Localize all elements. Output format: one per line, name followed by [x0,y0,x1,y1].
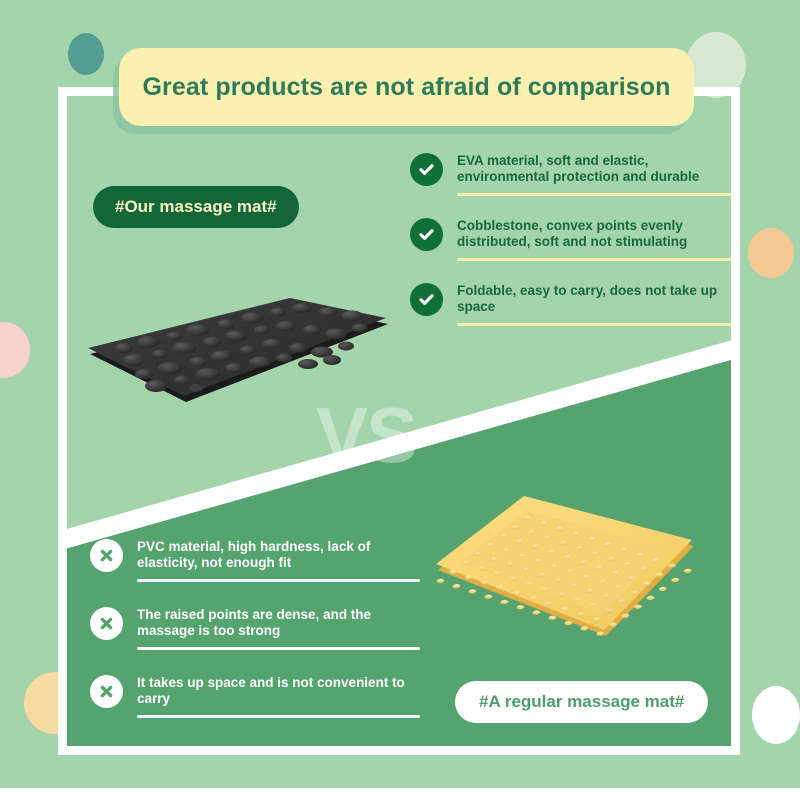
black-massage-mat-image [78,296,396,414]
page-bottom-strip [0,788,800,800]
our-product-label-text: #Our massage mat# [115,197,277,216]
yellow-massage-mat-image [430,488,702,656]
feature-underline [137,647,420,650]
peach-dot-decoration [748,228,794,278]
feature-text: The raised points are dense, and the mas… [137,607,420,640]
feature-underline [457,258,732,261]
feature-item: Foldable, easy to carry, does not take u… [410,282,732,326]
other-product-feature-list: PVC material, high hardness, lack of ela… [90,538,420,742]
page-title: Great products are not afraid of compari… [142,73,670,102]
check-icon [410,218,443,251]
feature-text: It takes up space and is not convenient … [137,675,420,708]
our-product-feature-list: EVA material, soft and elastic, environm… [410,152,732,347]
feature-item: The raised points are dense, and the mas… [90,606,420,650]
feature-text: Foldable, easy to carry, does not take u… [457,283,732,316]
our-product-label: #Our massage mat# [93,186,299,228]
feature-underline [137,715,420,718]
title-banner: Great products are not afraid of compari… [119,48,694,126]
cross-icon [90,539,123,572]
feature-text: Cobblestone, convex points evenly distri… [457,218,732,251]
feature-item: EVA material, soft and elastic, environm… [410,152,732,196]
feature-text: EVA material, soft and elastic, environm… [457,153,732,186]
feature-underline [457,193,732,196]
teal-dot-decoration [68,33,104,75]
cross-icon [90,607,123,640]
other-product-label: #A regular massage mat# [455,681,708,723]
feature-item: PVC material, high hardness, lack of ela… [90,538,420,582]
feature-item: It takes up space and is not convenient … [90,674,420,718]
pink-dot-decoration [0,322,30,378]
feature-underline [457,323,732,326]
feature-text: PVC material, high hardness, lack of ela… [137,539,420,572]
check-icon [410,153,443,186]
cross-icon [90,675,123,708]
comparison-infographic: VS Great products are not afraid of comp… [0,0,800,800]
check-icon [410,283,443,316]
white-dot-decoration [752,686,800,744]
feature-item: Cobblestone, convex points evenly distri… [410,217,732,261]
other-product-label-text: #A regular massage mat# [479,692,684,711]
feature-underline [137,579,420,582]
